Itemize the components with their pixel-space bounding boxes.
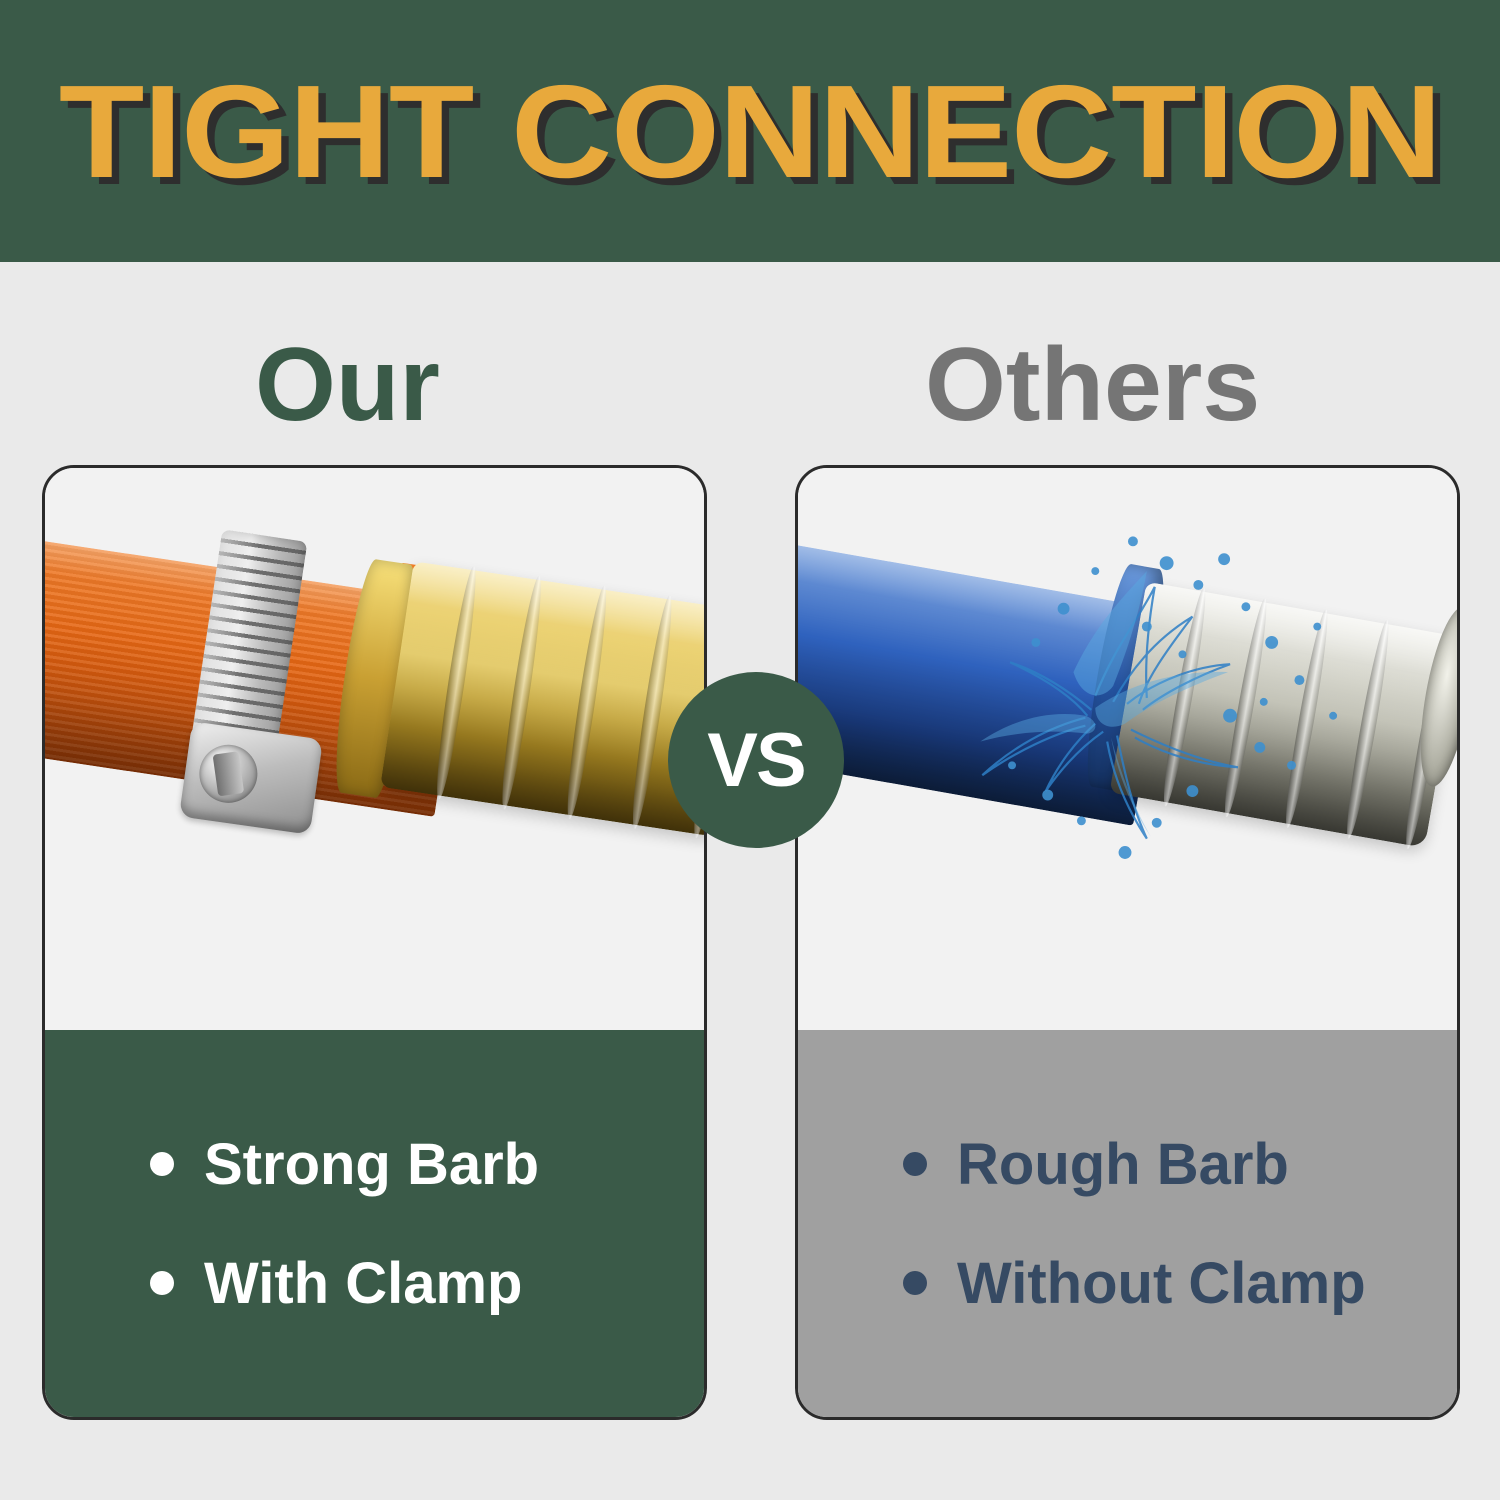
blue-hose-scene <box>798 468 1457 1036</box>
product-image-our <box>45 468 704 1036</box>
column-heading-our: Our <box>255 320 440 450</box>
bullet-dot-icon <box>903 1271 927 1295</box>
orange-hose-scene <box>45 468 704 1036</box>
column-heading-others: Others <box>925 320 1260 450</box>
feature-label: Strong Barb <box>204 1131 539 1198</box>
comparison-card-our: Strong Barb With Clamp <box>42 465 707 1420</box>
column-headings: Our Others <box>0 320 1500 450</box>
comparison-card-others: Rough Barb Without Clamp <box>795 465 1460 1420</box>
page-title: TIGHT CONNECTION <box>59 56 1441 207</box>
header-banner: TIGHT CONNECTION <box>0 0 1500 262</box>
vs-badge: VS <box>668 672 844 848</box>
list-item: Without Clamp <box>903 1250 1457 1317</box>
list-item: Rough Barb <box>903 1131 1457 1198</box>
vs-label: VS <box>707 717 804 804</box>
feature-label: Without Clamp <box>957 1250 1366 1317</box>
hose-clamp-screw-icon <box>179 721 323 834</box>
bullet-dot-icon <box>150 1152 174 1176</box>
feature-label: With Clamp <box>204 1250 522 1317</box>
list-item: Strong Barb <box>150 1131 704 1198</box>
steel-barb-icon <box>1109 582 1457 848</box>
feature-list-others: Rough Barb Without Clamp <box>798 1030 1457 1417</box>
bullet-dot-icon <box>903 1152 927 1176</box>
product-image-others <box>798 468 1457 1036</box>
list-item: With Clamp <box>150 1250 704 1317</box>
feature-list-our: Strong Barb With Clamp <box>45 1030 704 1417</box>
bullet-dot-icon <box>150 1271 174 1295</box>
feature-label: Rough Barb <box>957 1131 1289 1198</box>
